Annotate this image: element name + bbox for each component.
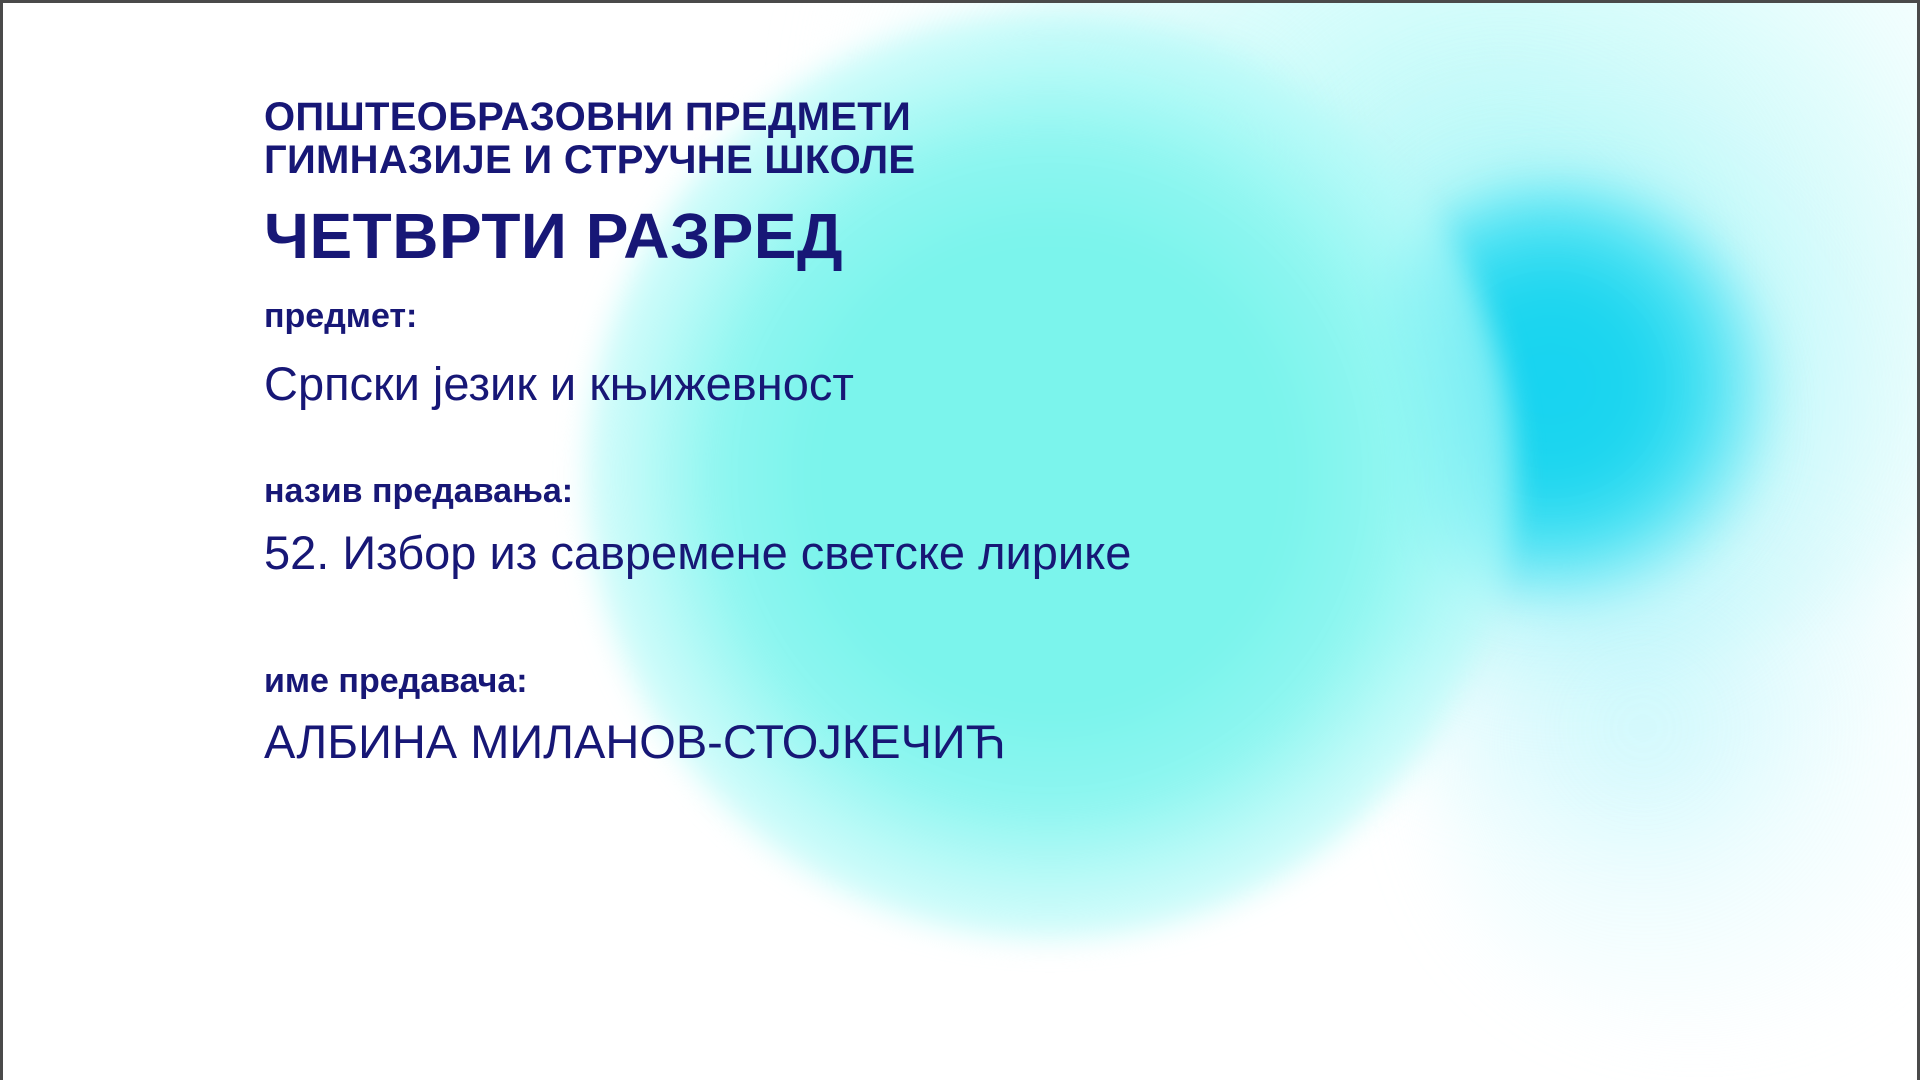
frame-edge-top	[0, 0, 1920, 3]
lecturer-value: АЛБИНА МИЛАНОВ-СТОЈКЕЧИЋ	[264, 716, 1564, 768]
subject-group: предмет: Српски језик и књижевност	[264, 298, 1564, 409]
lecture-title-value: 52. Избор из савремене светске лирике	[264, 527, 1564, 579]
frame-edge-left	[0, 0, 3, 1080]
program-category-line-1: ОПШТЕОБРАЗОВНИ ПРЕДМЕТИ	[264, 96, 1564, 139]
title-card-text-block: ОПШТЕОБРАЗОВНИ ПРЕДМЕТИ ГИМНАЗИЈЕ И СТРУ…	[264, 96, 1564, 768]
lecturer-label: име предавача:	[264, 663, 1564, 700]
lecturer-group: име предавача: АЛБИНА МИЛАНОВ-СТОЈКЕЧИЋ	[264, 663, 1564, 768]
program-category: ОПШТЕОБРАЗОВНИ ПРЕДМЕТИ ГИМНАЗИЈЕ И СТРУ…	[264, 96, 1564, 182]
subject-label: предмет:	[264, 298, 1564, 335]
lecture-title-label: назив предавања:	[264, 473, 1564, 510]
title-card-slide: ОПШТЕОБРАЗОВНИ ПРЕДМЕТИ ГИМНАЗИЈЕ И СТРУ…	[0, 0, 1920, 1080]
grade-title: ЧЕТВРТИ РАЗРЕД	[264, 204, 1564, 268]
lecture-group: назив предавања: 52. Избор из савремене …	[264, 473, 1564, 578]
program-category-line-2: ГИМНАЗИЈЕ И СТРУЧНЕ ШКОЛЕ	[264, 139, 1564, 182]
subject-value: Српски језик и књижевност	[264, 358, 1564, 410]
